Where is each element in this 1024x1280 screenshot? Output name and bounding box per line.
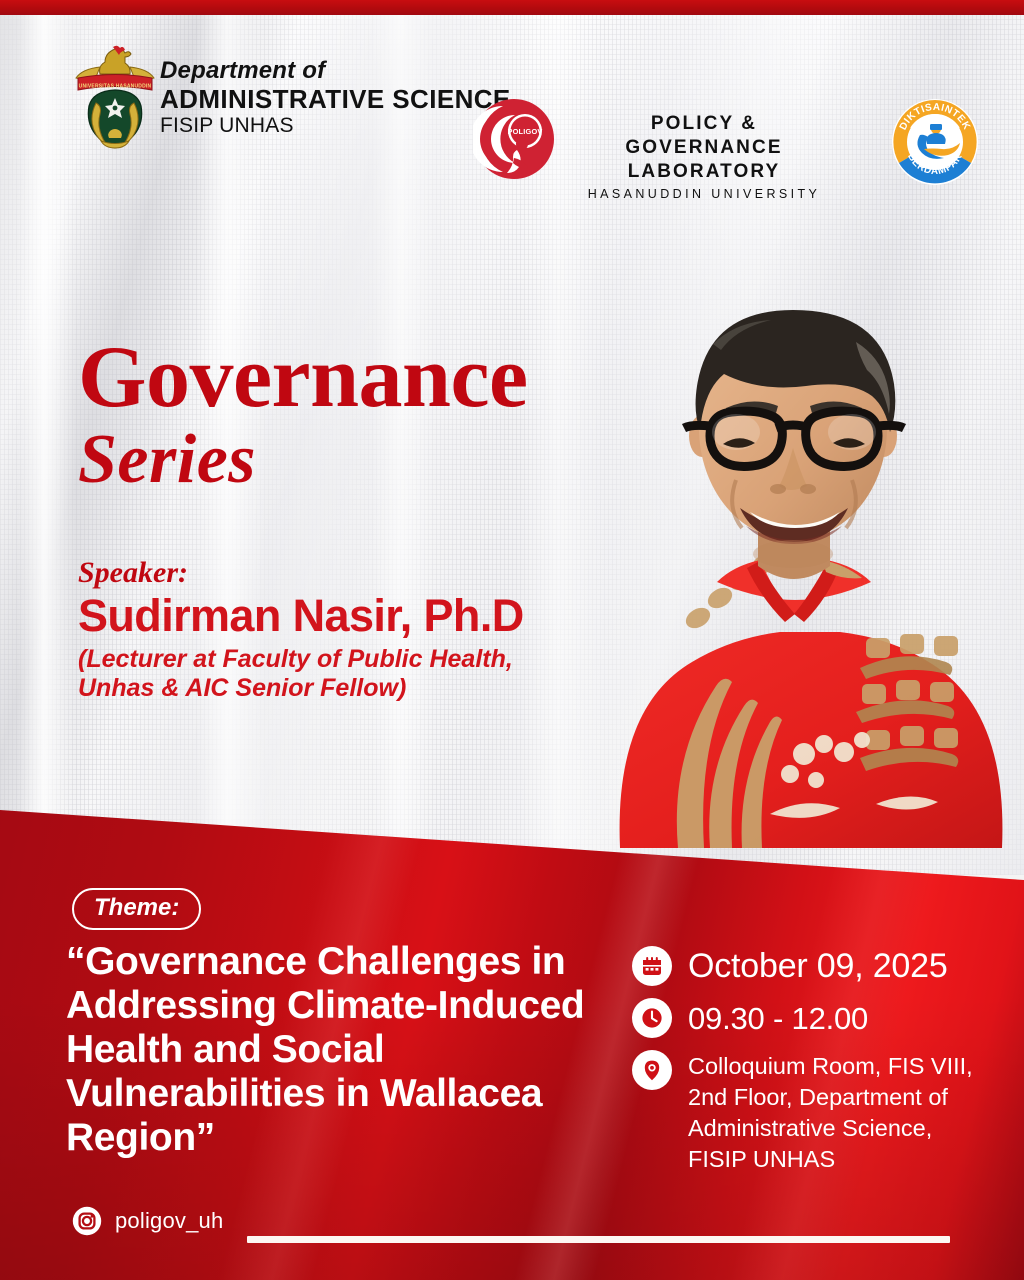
speaker-affiliation-line-2: Unhas & AIC Senior Fellow)	[78, 674, 524, 703]
headline-line-series: Series	[78, 424, 528, 495]
top-red-bar	[0, 0, 1024, 15]
instagram-handle[interactable]: poligov_uh	[115, 1210, 223, 1232]
event-date-value: October 09, 2025	[688, 946, 948, 986]
event-date-row: October 09, 2025	[632, 946, 992, 986]
clock-icon	[632, 998, 672, 1038]
event-details: October 09, 2025 09.30 - 12.00 Colloquiu…	[632, 946, 992, 1176]
event-location-value: Colloquium Room, FIS VIII, 2nd Floor, De…	[688, 1050, 992, 1175]
poligov-logo: POLIGOV	[473, 98, 555, 180]
department-text-block: Department of ADMINISTRATIVE SCIENCE FIS…	[160, 58, 511, 139]
speaker-affiliation-line-1: (Lecturer at Faculty of Public Health,	[78, 645, 524, 674]
speaker-label: Speaker:	[78, 556, 524, 589]
instagram-icon[interactable]	[72, 1206, 102, 1236]
speaker-portrait	[560, 268, 1024, 848]
footer-rule	[247, 1236, 950, 1243]
speaker-name: Sudirman Nasir, Ph.D	[78, 591, 524, 641]
theme-title: “Governance Challenges in Addressing Cli…	[66, 940, 606, 1160]
svg-text:POLIGOV: POLIGOV	[507, 127, 542, 136]
laboratory-line-3: HASANUDDIN UNIVERSITY	[575, 185, 833, 204]
unhas-crest-logo: UNIVERSITAS HASANUDDIN	[72, 45, 158, 150]
poster-header: UNIVERSITAS HASANUDDIN Department of ADM…	[0, 40, 1024, 155]
poster-footer: poligov_uh	[72, 1206, 223, 1236]
diktisaintek-berdampak-logo: DIKTISAINTEK BERDAMPAK	[890, 97, 980, 187]
laboratory-text-block: POLICY & GOVERNANCE LABORATORY HASANUDDI…	[575, 112, 833, 204]
laboratory-line-2: LABORATORY	[575, 160, 833, 184]
calendar-icon	[632, 946, 672, 986]
event-time-value: 09.30 - 12.00	[688, 998, 868, 1037]
event-time-row: 09.30 - 12.00	[632, 998, 992, 1038]
headline-line-governance: Governance	[78, 336, 528, 420]
svg-text:UNIVERSITAS HASANUDDIN: UNIVERSITAS HASANUDDIN	[79, 84, 152, 90]
department-line-2: ADMINISTRATIVE SCIENCE	[160, 85, 511, 114]
poster-headline: Governance Series	[78, 336, 528, 495]
event-poster: UNIVERSITAS HASANUDDIN Department of ADM…	[0, 0, 1024, 1280]
department-line-1: Department of	[160, 58, 511, 85]
laboratory-line-1: POLICY & GOVERNANCE	[575, 112, 833, 160]
event-location-row: Colloquium Room, FIS VIII, 2nd Floor, De…	[632, 1050, 992, 1175]
department-line-3: FISIP UNHAS	[160, 114, 511, 139]
speaker-block: Speaker: Sudirman Nasir, Ph.D (Lecturer …	[78, 556, 524, 702]
theme-badge: Theme:	[72, 888, 201, 930]
location-pin-icon	[632, 1050, 672, 1090]
